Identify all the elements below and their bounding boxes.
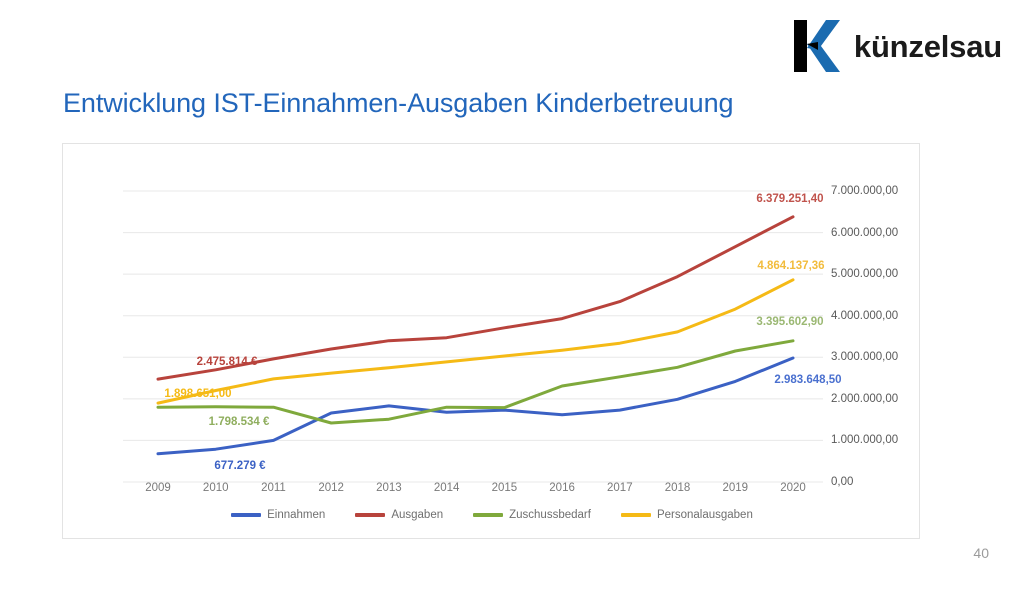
chart-legend: EinnahmenAusgabenZuschussbedarfPersonala…: [63, 509, 921, 521]
legend-item-label: Zuschussbedarf: [509, 509, 591, 521]
data-point-label: 2.475.814 €: [197, 356, 258, 368]
data-point-label: 1.898.651,00: [164, 388, 231, 400]
x-axis-tick-label-2017: 2017: [607, 482, 633, 494]
legend-item-personalausgaben[interactable]: Personalausgaben: [621, 509, 753, 521]
x-axis-tick-label-2019: 2019: [722, 482, 748, 494]
x-axis-tick-label-2020: 2020: [780, 482, 806, 494]
brand-logo: künzelsau: [794, 20, 1002, 72]
data-point-label: 4.864.137,36: [757, 260, 824, 272]
legend-item-label: Einnahmen: [267, 509, 325, 521]
series-line-ausgaben: [158, 217, 793, 379]
legend-item-label: Ausgaben: [391, 509, 443, 521]
legend-color-swatch-icon: [621, 513, 651, 517]
legend-item-label: Personalausgaben: [657, 509, 753, 521]
legend-item-ausgaben[interactable]: Ausgaben: [355, 509, 443, 521]
y-axis-tick-label: 5.000.000,00: [831, 268, 898, 280]
data-point-label: 2.983.648,50: [774, 374, 841, 386]
data-point-label: 1.798.534 €: [209, 416, 270, 428]
legend-color-swatch-icon: [473, 513, 503, 517]
x-axis-tick-label-2011: 2011: [261, 482, 286, 494]
logo-wordmark: künzelsau: [854, 31, 1002, 62]
legend-color-swatch-icon: [355, 513, 385, 517]
x-axis-tick-label-2013: 2013: [376, 482, 402, 494]
legend-item-einnahmen[interactable]: Einnahmen: [231, 509, 325, 521]
chart-gridlines: [123, 191, 823, 482]
x-axis-tick-label-2015: 2015: [492, 482, 518, 494]
chart-container: 0,001.000.000,002.000.000,003.000.000,00…: [62, 143, 920, 539]
x-axis-tick-label-2014: 2014: [434, 482, 460, 494]
y-axis-tick-label: 2.000.000,00: [831, 393, 898, 405]
x-axis-tick-label-2018: 2018: [665, 482, 691, 494]
x-axis-tick-label-2009: 2009: [145, 482, 171, 494]
y-axis-tick-label: 1.000.000,00: [831, 434, 898, 446]
y-axis-tick-label: 0,00: [831, 476, 853, 488]
series-line-personalausgaben: [158, 280, 793, 403]
y-axis-tick-label: 7.000.000,00: [831, 185, 898, 197]
legend-item-zuschussbedarf[interactable]: Zuschussbedarf: [473, 509, 591, 521]
data-point-label: 6.379.251,40: [756, 193, 823, 205]
page-number: 40: [973, 545, 989, 561]
y-axis-tick-label: 6.000.000,00: [831, 227, 898, 239]
y-axis-tick-label: 4.000.000,00: [831, 310, 898, 322]
x-axis-tick-label-2016: 2016: [549, 482, 575, 494]
kuenzelsau-k-logo-icon: [794, 20, 840, 72]
page-title: Entwicklung IST-Einnahmen-Ausgaben Kinde…: [63, 88, 733, 119]
x-axis-tick-label-2010: 2010: [203, 482, 229, 494]
data-point-label: 677.279 €: [214, 460, 265, 472]
data-point-label: 3.395.602,90: [756, 316, 823, 328]
legend-color-swatch-icon: [231, 513, 261, 517]
y-axis-tick-label: 3.000.000,00: [831, 351, 898, 363]
x-axis-tick-label-2012: 2012: [318, 482, 344, 494]
